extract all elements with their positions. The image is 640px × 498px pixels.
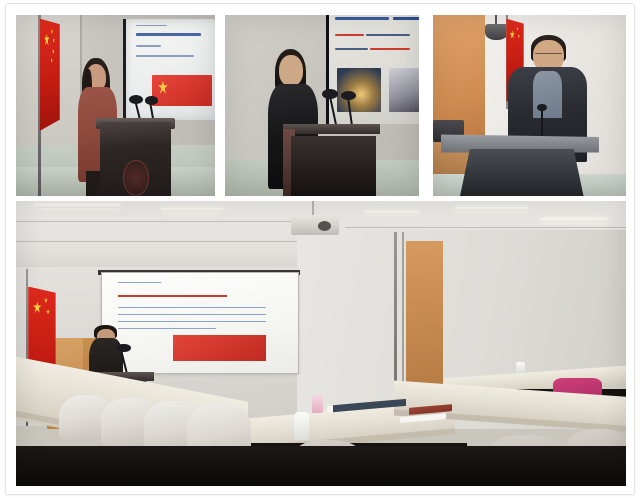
podium xyxy=(291,136,376,196)
slide-image-portrait xyxy=(389,68,419,113)
microphone-head xyxy=(116,344,131,353)
slide-header-line xyxy=(136,25,167,26)
podium-top xyxy=(283,124,380,135)
flag-small-star xyxy=(51,29,53,34)
microphone-head xyxy=(537,104,547,111)
slide-title-line xyxy=(393,17,419,20)
ceiling-seam xyxy=(345,227,626,228)
flag-small-star xyxy=(516,27,518,30)
flag-small-star xyxy=(44,298,48,303)
slide-title-line xyxy=(118,295,227,297)
microphone-head xyxy=(322,89,338,99)
microphone-stem xyxy=(541,109,543,138)
top-photo-row xyxy=(16,15,626,196)
microphone-head xyxy=(129,95,143,104)
slide-body-line xyxy=(335,48,368,50)
microphone-head xyxy=(145,96,158,104)
water-bottle xyxy=(516,362,525,373)
floor xyxy=(16,446,626,486)
photo-thumbnail-3[interactable] xyxy=(433,15,626,196)
flag-large-star xyxy=(33,302,41,313)
slide-title-line xyxy=(335,17,389,20)
slide-highlight-line xyxy=(335,34,364,36)
slide-body-line xyxy=(366,34,411,36)
ceiling-seam xyxy=(16,221,297,222)
ceiling-light xyxy=(455,207,528,211)
slide-header-line xyxy=(118,282,161,283)
slide-party-flag-image xyxy=(173,335,267,361)
flag-small-star xyxy=(52,49,54,54)
projection-screen xyxy=(101,272,298,374)
photo-main-conference-room[interactable] xyxy=(16,201,626,486)
ceiling-seam xyxy=(16,241,333,242)
flag-small-star xyxy=(53,38,55,43)
flag-large-star xyxy=(44,33,49,45)
photo-thumbnail-2[interactable] xyxy=(225,15,419,196)
slide-highlight-line xyxy=(370,48,411,50)
slide-party-flag-image xyxy=(152,75,212,105)
ceiling-light xyxy=(162,208,223,211)
photo-collage-card xyxy=(5,3,635,495)
slide-body-line xyxy=(118,307,266,308)
slide-body-line xyxy=(136,45,162,47)
flag-small-star xyxy=(46,309,50,314)
slide-body-line xyxy=(136,55,195,57)
ceiling-light xyxy=(541,218,608,222)
projection-screen xyxy=(326,15,419,124)
eyeglasses-icon xyxy=(535,53,562,59)
podium xyxy=(460,149,584,196)
orange-wall-strip xyxy=(406,241,443,389)
flag-large-star xyxy=(510,30,515,38)
slide-image-astronaut xyxy=(337,68,382,113)
slide-body-line xyxy=(118,321,266,322)
photo-thumbnail-1[interactable] xyxy=(16,15,215,196)
chinese-national-flag xyxy=(40,19,60,131)
slide-title-line xyxy=(136,33,202,36)
ceiling-projector xyxy=(291,215,340,235)
flag-small-star xyxy=(518,34,520,37)
water-bottle xyxy=(294,412,310,441)
flag-small-star xyxy=(51,58,53,63)
ceiling-light xyxy=(34,204,119,209)
slide-body-line xyxy=(118,328,216,329)
hand-sanitizer-bottle xyxy=(312,395,323,414)
speaker-shirt xyxy=(533,71,562,118)
ceiling-light xyxy=(364,211,419,214)
speaker-head xyxy=(279,55,302,86)
slide-body-line xyxy=(118,314,266,315)
